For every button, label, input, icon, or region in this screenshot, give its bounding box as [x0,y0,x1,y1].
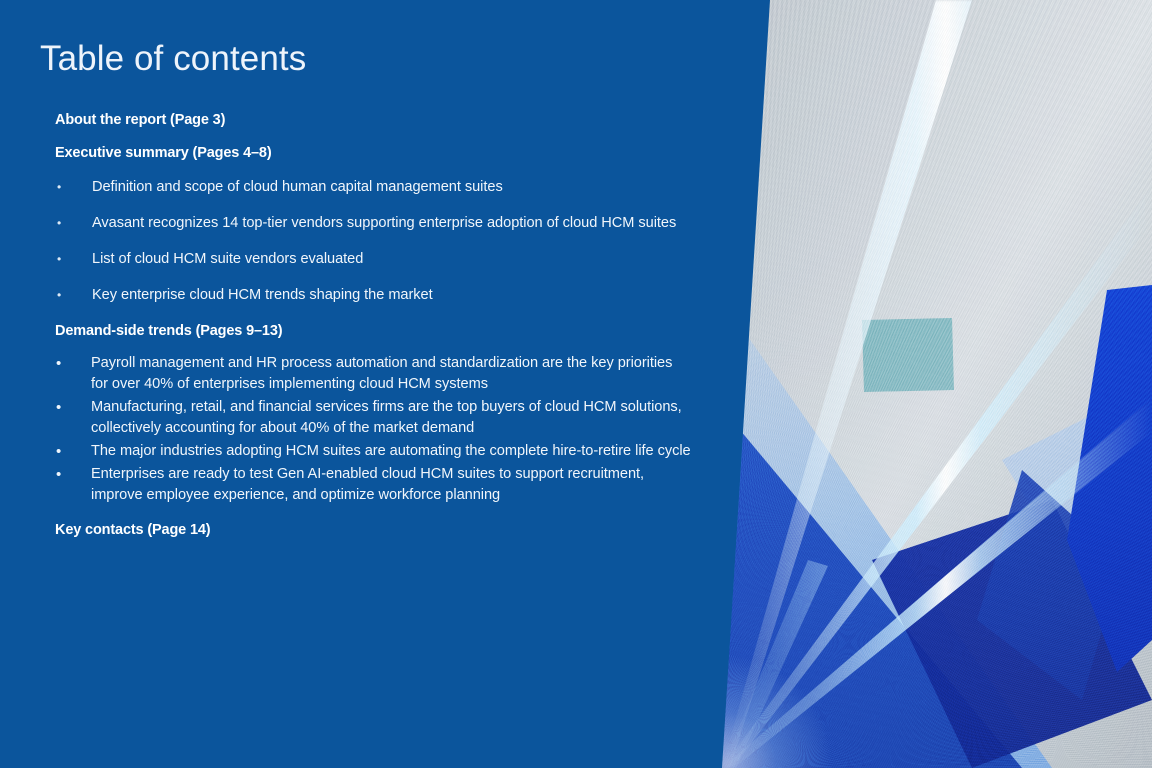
page-title: Table of contents [40,40,306,79]
list-item: • Enterprises are ready to test Gen AI-e… [55,464,705,506]
artwork-apex-glow [722,0,1152,768]
list-item: • Definition and scope of cloud human ca… [55,177,705,198]
slide-canvas: Table of contents About the report (Page… [0,0,1152,768]
toc-heading-demand-side-trends[interactable]: Demand-side trends (Pages 9–13) [55,323,705,339]
list-item-text: Payroll management and HR process automa… [91,353,691,395]
bullet-icon: • [55,441,91,462]
bullet-group-demand-side-trends: • Payroll management and HR process auto… [55,353,705,506]
bullet-icon: • [55,285,92,306]
list-item-text: Key enterprise cloud HCM trends shaping … [92,285,692,306]
list-item-text: Definition and scope of cloud human capi… [92,177,692,198]
toc-heading-executive-summary[interactable]: Executive summary (Pages 4–8) [55,145,705,161]
list-item: • List of cloud HCM suite vendors evalua… [55,249,705,270]
list-item-text: Manufacturing, retail, and financial ser… [91,397,691,439]
bullet-icon: • [55,177,92,198]
bullet-icon: • [55,464,91,485]
list-item-text: The major industries adopting HCM suites… [91,441,691,462]
toc-heading-key-contacts[interactable]: Key contacts (Page 14) [55,522,705,538]
table-of-contents: About the report (Page 3) Executive summ… [55,112,705,538]
list-item-text: Avasant recognizes 14 top-tier vendors s… [92,213,692,234]
list-item-text: Enterprises are ready to test Gen AI-ena… [91,464,691,506]
list-item: • Key enterprise cloud HCM trends shapin… [55,285,705,306]
bullet-icon: • [55,249,92,270]
toc-heading-about-the-report[interactable]: About the report (Page 3) [55,112,705,128]
bullet-group-executive-summary: • Definition and scope of cloud human ca… [55,177,705,306]
list-item: • Avasant recognizes 14 top-tier vendors… [55,213,705,234]
list-item-text: List of cloud HCM suite vendors evaluate… [92,249,692,270]
abstract-radial-fan-graphic [722,0,1152,768]
bullet-icon: • [55,397,91,418]
bullet-icon: • [55,353,91,374]
slide-content: Table of contents About the report (Page… [0,0,720,768]
list-item: • Payroll management and HR process auto… [55,353,705,395]
list-item: • The major industries adopting HCM suit… [55,441,705,462]
bullet-icon: • [55,213,92,234]
list-item: • Manufacturing, retail, and financial s… [55,397,705,439]
